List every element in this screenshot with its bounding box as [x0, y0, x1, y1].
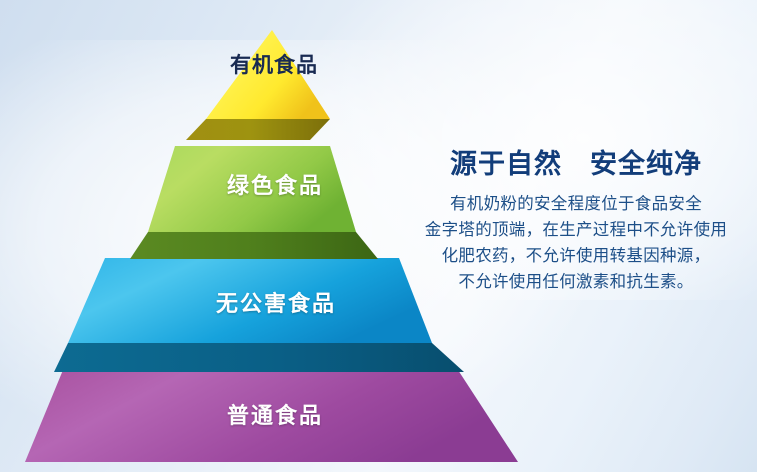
- blue-layer-face: [68, 258, 432, 343]
- green-layer-side: [130, 232, 378, 259]
- pyramid-layer-organic: [186, 30, 330, 140]
- body-line: 有机奶粉的安全程度位于食品安全: [408, 191, 744, 217]
- yellow-layer-side: [186, 119, 330, 140]
- blue-layer-side: [54, 343, 464, 372]
- pyramid-layer-ordinary: [25, 370, 518, 462]
- promo-banner: 有机食品 绿色食品 无公害食品 普通食品 源于自然 安全纯净 有机奶粉的安全程度…: [0, 0, 757, 472]
- yellow-layer-face: [206, 30, 330, 119]
- body-line: 化肥农药，不允许使用转基因种源，: [408, 243, 744, 269]
- body-line: 金字塔的顶端，在生产过程中不允许使用: [408, 217, 744, 243]
- green-layer-face: [148, 146, 356, 232]
- pyramid-layer-green-food: [130, 146, 378, 259]
- purple-layer-face: [25, 370, 518, 462]
- pyramid-layer-pollution-free: [54, 258, 464, 372]
- body-copy-text: 有机奶粉的安全程度位于食品安全 金字塔的顶端，在生产过程中不允许使用 化肥农药，…: [408, 191, 744, 295]
- headline-text: 源于自然 安全纯净: [408, 148, 744, 182]
- body-line: 不允许使用任何激素和抗生素。: [408, 269, 744, 295]
- marketing-copy-panel: 源于自然 安全纯净 有机奶粉的安全程度位于食品安全 金字塔的顶端，在生产过程中不…: [408, 148, 744, 295]
